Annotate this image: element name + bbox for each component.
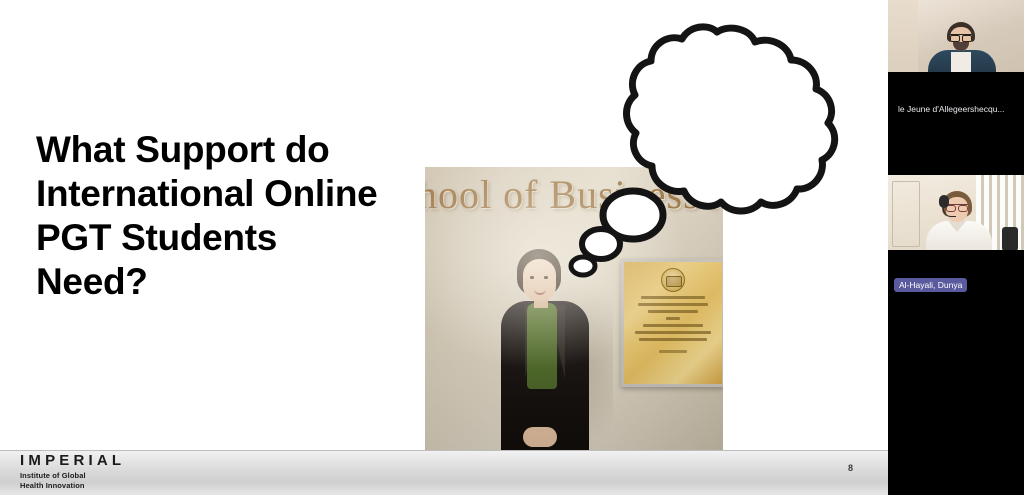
participant-2-name-label: Al-Hayali, Dunya <box>894 278 967 292</box>
glasses-icon <box>950 34 972 41</box>
slide-page-number: 8 <box>848 463 853 473</box>
meeting-screen-share-view: What Support do International Online PGT… <box>0 0 1024 495</box>
participant-video-1 <box>888 0 1024 72</box>
thought-bubble-tiny <box>571 257 595 275</box>
thought-bubble-large <box>626 27 834 211</box>
brand-subtitle-line-1: Institute of Global <box>20 471 125 481</box>
brand-subtitle-line-2: Health Innovation <box>20 481 125 491</box>
participant-1-name-label: le Jeune d'Allegeershecqu... <box>898 104 1005 114</box>
participant-tile-1[interactable] <box>888 0 1024 95</box>
footer-divider <box>0 450 888 451</box>
slide-footer <box>0 450 888 495</box>
thought-bubble-group <box>0 0 888 495</box>
brand-name: IMPERIAL <box>20 452 125 469</box>
presentation-slide: What Support do International Online PGT… <box>0 0 888 495</box>
participant-video-sidebar: le Jeune d'Allegeershecqu... Al-Hayali, … <box>888 0 1024 495</box>
imperial-logo: IMPERIAL Institute of Global Health Inno… <box>20 452 125 490</box>
thought-bubble-small <box>582 229 620 259</box>
headset-icon <box>939 195 949 208</box>
participant-video-2 <box>888 175 1024 250</box>
participant-tile-2[interactable] <box>888 170 1024 280</box>
